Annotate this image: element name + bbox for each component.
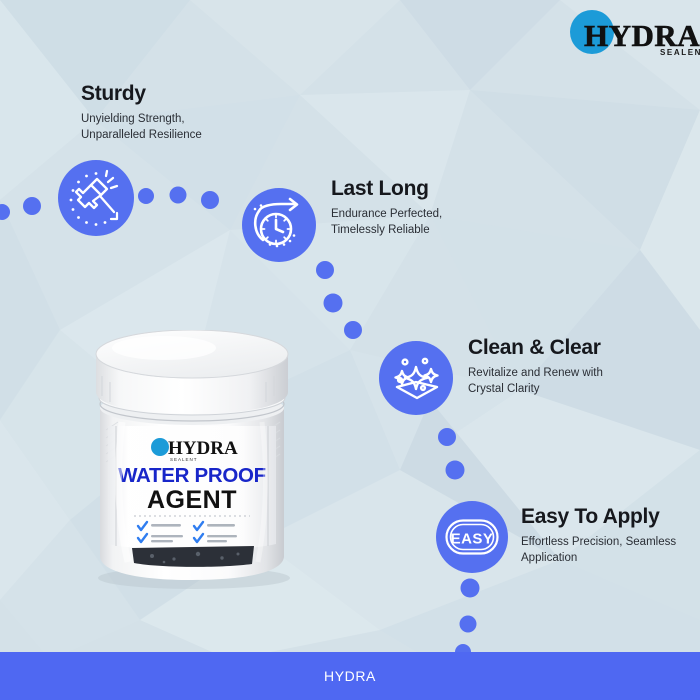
feature-desc: Revitalize and Renew with Crystal Clarit… <box>468 365 603 398</box>
easy-badge-label: EASY <box>451 531 494 548</box>
feature-title: Easy To Apply <box>521 505 676 528</box>
jar-label-brand: HYDRA <box>168 438 238 459</box>
feature-desc: Effortless Precision, Seamless Applicati… <box>521 534 676 567</box>
hammer-icon <box>67 169 125 227</box>
feature-text-last-long: Last Long Endurance Perfected, Timelessl… <box>331 177 442 239</box>
jar-label-line1: WATER PROOF <box>118 464 266 487</box>
feature-text-sturdy: Sturdy Unyielding Strength, Unparalleled… <box>81 82 202 144</box>
feature-title: Clean & Clear <box>468 336 603 359</box>
feature-desc: Unyielding Strength, Unparalleled Resili… <box>81 111 202 144</box>
feature-icon-sparkle[interactable] <box>379 341 453 415</box>
easy-badge-icon: EASY <box>443 515 501 559</box>
feature-icon-clock[interactable] <box>242 188 316 262</box>
jar-label-line2: AGENT <box>147 486 237 514</box>
feature-desc: Endurance Perfected, Timelessly Reliable <box>331 206 442 239</box>
jar-label-brand-sub: SEALENT <box>170 457 198 462</box>
logo-subtitle: SEALENT <box>660 48 700 57</box>
clock-arrow-icon <box>251 197 307 253</box>
feature-title: Sturdy <box>81 82 202 105</box>
product-jar: HYDRA SEALENT WATER PROOF AGENT <box>82 330 302 590</box>
brand-logo: HYDRA SEALENT <box>562 4 698 64</box>
footer-brand-text: HYDRA <box>324 668 376 684</box>
feature-icon-hammer[interactable] <box>58 160 134 236</box>
feature-text-easy-apply: Easy To Apply Effortless Precision, Seam… <box>521 505 676 567</box>
feature-title: Last Long <box>331 177 442 200</box>
sparkle-surface-icon <box>388 350 444 406</box>
feature-text-clean-clear: Clean & Clear Revitalize and Renew with … <box>468 336 603 398</box>
feature-icon-easy[interactable]: EASY <box>436 501 508 573</box>
footer-bar: HYDRA <box>0 652 700 700</box>
